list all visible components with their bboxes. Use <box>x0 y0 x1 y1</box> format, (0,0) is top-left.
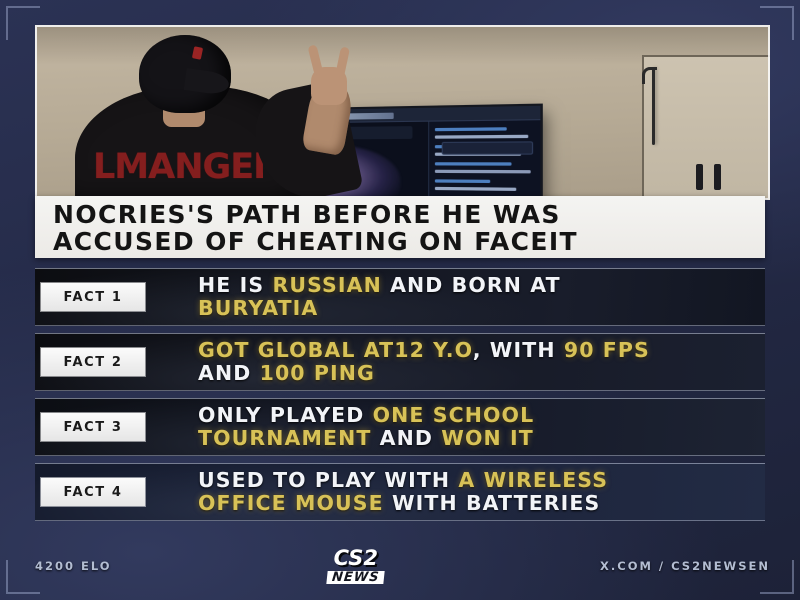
headline-panel: NOCRIES'S PATH BEFORE HE WAS ACCUSED OF … <box>35 196 765 258</box>
fact-text-highlight: OFFICE MOUSE <box>198 491 384 515</box>
fact-badge: FACT 4 <box>41 478 145 506</box>
fact-text-plain: AND <box>371 426 441 450</box>
fact-text-plain: AND BORN AT <box>382 273 561 297</box>
brand-logo-secondary: NEWS <box>326 571 385 584</box>
fact-text-plain: , WITH <box>473 338 564 362</box>
fact-text-highlight: 90 FPS <box>564 338 650 362</box>
photo-monitor-search-box <box>442 141 533 154</box>
fact-text-highlight: TOURNAMENT <box>198 426 371 450</box>
fact-text-plain: ONLY PLAYED <box>198 403 373 427</box>
fact-badge: FACT 3 <box>41 413 145 441</box>
fact-row: FACT 2GOT GLOBAL AT12 Y.O, WITH 90 FPSAN… <box>35 333 765 391</box>
fact-text-highlight: BURYATIA <box>198 296 318 320</box>
header-photo: LMANGELS <box>35 25 770 200</box>
fact-text-highlight: A WIRELESS <box>458 468 608 492</box>
fact-text: GOT GLOBAL AT12 Y.O, WITH 90 FPSAND 100 … <box>198 339 650 385</box>
fact-row: FACT 3ONLY PLAYED ONE SCHOOLTOURNAMENT A… <box>35 398 765 456</box>
fact-text-highlight: RUSSIAN <box>272 273 381 297</box>
photo-door-handle-right <box>714 164 721 190</box>
fact-text-highlight: ONE SCHOOL <box>373 403 535 427</box>
fact-text-plain: AND <box>198 361 260 385</box>
fact-text: ONLY PLAYED ONE SCHOOLTOURNAMENT AND WON… <box>198 404 534 450</box>
photo-door-rod <box>652 67 655 145</box>
footer-social-handle: X.COM / CS2NEWSEN <box>600 559 770 573</box>
fact-text-plain: USED TO PLAY WITH <box>198 468 458 492</box>
fact-text-highlight: 100 PING <box>260 361 375 385</box>
photo-door-handle-left <box>696 164 703 190</box>
fact-text-plain: WITH BATTERIES <box>384 491 601 515</box>
photo-monitor-chat-panel <box>428 120 540 200</box>
footer-elo-rating: 4200 ELO <box>35 559 112 573</box>
fact-text: HE IS RUSSIAN AND BORN ATBURYATIA <box>198 274 561 320</box>
fact-text-plain: HE IS <box>198 273 272 297</box>
photo-glass-door <box>642 55 770 200</box>
fact-text-highlight: WON IT <box>441 426 534 450</box>
infographic-card: LMANGELS NOCRIES'S PATH BEFORE HE WAS AC… <box>0 0 800 600</box>
fact-badge: FACT 1 <box>41 283 145 311</box>
footer: 4200 ELO CS2 NEWS X.COM / CS2NEWSEN <box>35 546 770 586</box>
brand-logo: CS2 NEWS <box>327 548 384 585</box>
headline-line-2: ACCUSED OF CHEATING ON FACEIT <box>53 228 765 255</box>
photo-shirt-text: LMANGELS <box>93 144 263 190</box>
fact-badge: FACT 2 <box>41 348 145 376</box>
fact-list: FACT 1HE IS RUSSIAN AND BORN ATBURYATIAF… <box>35 268 765 528</box>
headline-line-1: NOCRIES'S PATH BEFORE HE WAS <box>53 201 765 228</box>
fact-row: FACT 4USED TO PLAY WITH A WIRELESSOFFICE… <box>35 463 765 521</box>
fact-row: FACT 1HE IS RUSSIAN AND BORN ATBURYATIA <box>35 268 765 326</box>
fact-text-highlight: GOT GLOBAL AT12 Y.O <box>198 338 473 362</box>
brand-logo-primary: CS2 <box>327 548 384 569</box>
fact-text: USED TO PLAY WITH A WIRELESSOFFICE MOUSE… <box>198 469 608 515</box>
